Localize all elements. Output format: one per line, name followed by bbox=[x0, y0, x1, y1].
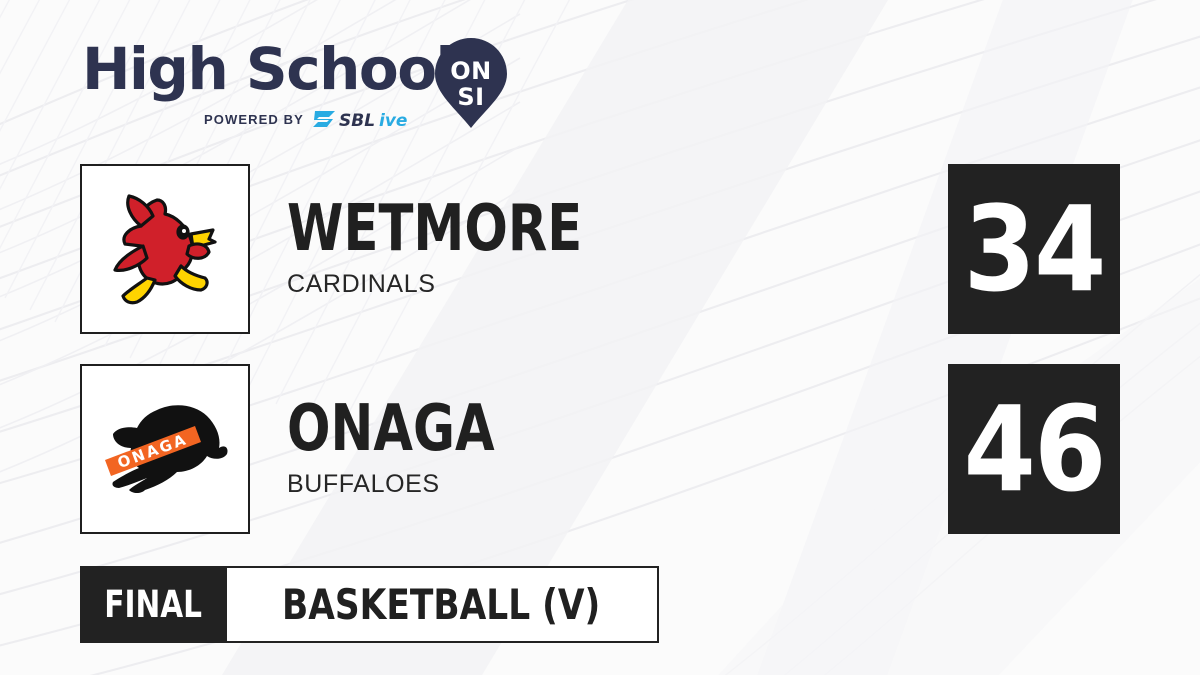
sport-label: BASKETBALL (V) bbox=[282, 580, 600, 629]
team-score-box: 34 bbox=[948, 164, 1120, 334]
sblive-text-dark: SBL bbox=[339, 111, 375, 130]
brand-logo: High School ON SI POWERED BY SBL ive bbox=[82, 38, 512, 133]
on-si-pin-icon: ON SI bbox=[434, 37, 508, 134]
buffalo-mascot-logo-icon: ONAGA bbox=[99, 394, 231, 504]
brand-title: High School bbox=[82, 40, 454, 98]
game-state-badge: FINAL bbox=[80, 566, 227, 643]
team-score: 46 bbox=[964, 390, 1105, 508]
game-state-label: FINAL bbox=[105, 583, 203, 626]
sblive-logo-icon: SBL ive bbox=[313, 108, 425, 130]
pin-label-si: SI bbox=[457, 83, 484, 111]
team-score-box: 46 bbox=[948, 364, 1120, 534]
team-row: WETMORE CARDINALS 34 bbox=[80, 164, 1120, 334]
sport-label-box: BASKETBALL (V) bbox=[227, 566, 659, 643]
team-score: 34 bbox=[964, 190, 1105, 308]
pin-label-on: ON bbox=[450, 57, 492, 85]
scoreboard-graphic: High School ON SI POWERED BY SBL ive bbox=[0, 0, 1200, 675]
cardinal-mascot-logo-icon bbox=[105, 184, 225, 314]
sblive-text-light: ive bbox=[379, 111, 407, 130]
game-status-bar: FINAL BASKETBALL (V) bbox=[80, 566, 659, 643]
powered-by-block: POWERED BY SBL ive bbox=[204, 108, 425, 130]
team-logo-box: ONAGA bbox=[80, 364, 250, 534]
team-row: ONAGA ONAGA BUFFALOES 46 bbox=[80, 364, 1120, 534]
team-name: ONAGA bbox=[287, 399, 953, 460]
team-logo-box bbox=[80, 164, 250, 334]
powered-by-label: POWERED BY bbox=[204, 112, 304, 127]
team-name: WETMORE bbox=[287, 199, 953, 260]
